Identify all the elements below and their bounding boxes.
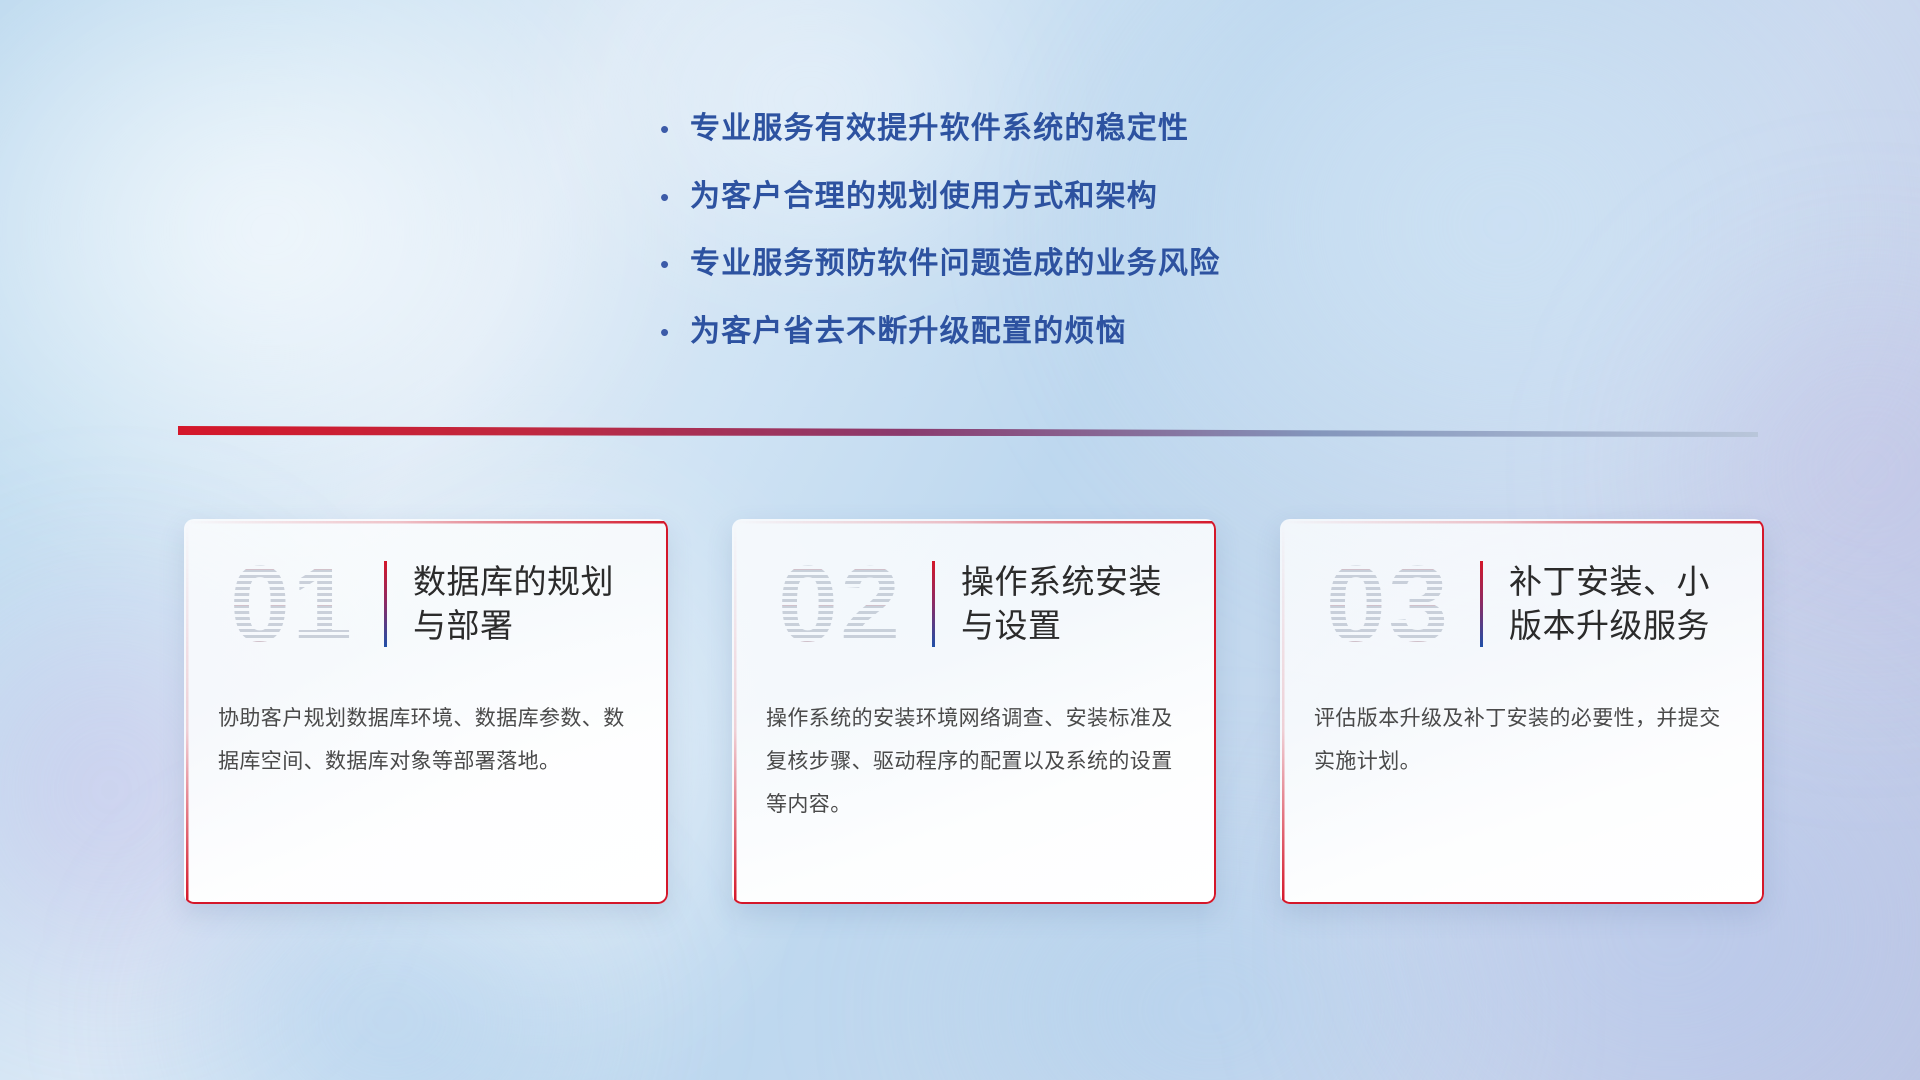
card-title: 操作系统安装与设置 <box>961 560 1193 647</box>
card-header: 0101 数据库的规划与部署 <box>184 519 668 689</box>
bullet-text: 专业服务有效提升软件系统的稳定性 <box>690 110 1189 148</box>
bullet-marker-icon: • <box>660 319 690 345</box>
benefits-bullet-list: • 专业服务有效提升软件系统的稳定性 • 为客户合理的规划使用方式和架构 • 专… <box>660 110 1500 380</box>
card-header: 0303 补丁安装、小版本升级服务 <box>1280 519 1764 689</box>
service-card-02[interactable]: 0202 操作系统安装与设置 操作系统的安装环境网络调查、安装标准及复核步骤、驱… <box>732 519 1216 904</box>
bullet-marker-icon: • <box>660 251 690 277</box>
card-title-rule <box>1480 561 1483 647</box>
card-title: 补丁安装、小版本升级服务 <box>1509 560 1741 647</box>
card-number-watermark: 0303 <box>1302 545 1474 663</box>
card-body-text: 评估版本升级及补丁安装的必要性，并提交实施计划。 <box>1280 689 1764 783</box>
section-divider <box>178 424 1758 440</box>
slide-canvas: • 专业服务有效提升软件系统的稳定性 • 为客户合理的规划使用方式和架构 • 专… <box>0 0 1920 1080</box>
service-card-row: 0101 数据库的规划与部署 协助客户规划数据库环境、数据库参数、数据库空间、数… <box>184 519 1764 904</box>
bullet-text: 为客户合理的规划使用方式和架构 <box>690 178 1158 216</box>
card-body-text: 操作系统的安装环境网络调查、安装标准及复核步骤、驱动程序的配置以及系统的设置等内… <box>732 689 1216 826</box>
card-number-watermark: 0101 <box>206 545 378 663</box>
card-number-stripe-tint: 01 <box>206 545 378 663</box>
card-title-rule <box>932 561 935 647</box>
service-card-01[interactable]: 0101 数据库的规划与部署 协助客户规划数据库环境、数据库参数、数据库空间、数… <box>184 519 668 904</box>
bullet-text: 专业服务预防软件问题造成的业务风险 <box>690 245 1220 283</box>
card-title: 数据库的规划与部署 <box>413 560 645 647</box>
list-item: • 专业服务预防软件问题造成的业务风险 <box>660 245 1500 283</box>
card-number-stripe-tint: 02 <box>754 545 926 663</box>
bullet-marker-icon: • <box>660 184 690 210</box>
list-item: • 为客户省去不断升级配置的烦恼 <box>660 313 1500 351</box>
bullet-marker-icon: • <box>660 116 690 142</box>
card-body-text: 协助客户规划数据库环境、数据库参数、数据库空间、数据库对象等部署落地。 <box>184 689 668 783</box>
list-item: • 专业服务有效提升软件系统的稳定性 <box>660 110 1500 148</box>
card-header: 0202 操作系统安装与设置 <box>732 519 1216 689</box>
card-number-watermark: 0202 <box>754 545 926 663</box>
bullet-text: 为客户省去不断升级配置的烦恼 <box>690 313 1127 351</box>
card-number-stripe-tint: 03 <box>1302 545 1474 663</box>
card-title-rule <box>384 561 387 647</box>
list-item: • 为客户合理的规划使用方式和架构 <box>660 178 1500 216</box>
service-card-03[interactable]: 0303 补丁安装、小版本升级服务 评估版本升级及补丁安装的必要性，并提交实施计… <box>1280 519 1764 904</box>
